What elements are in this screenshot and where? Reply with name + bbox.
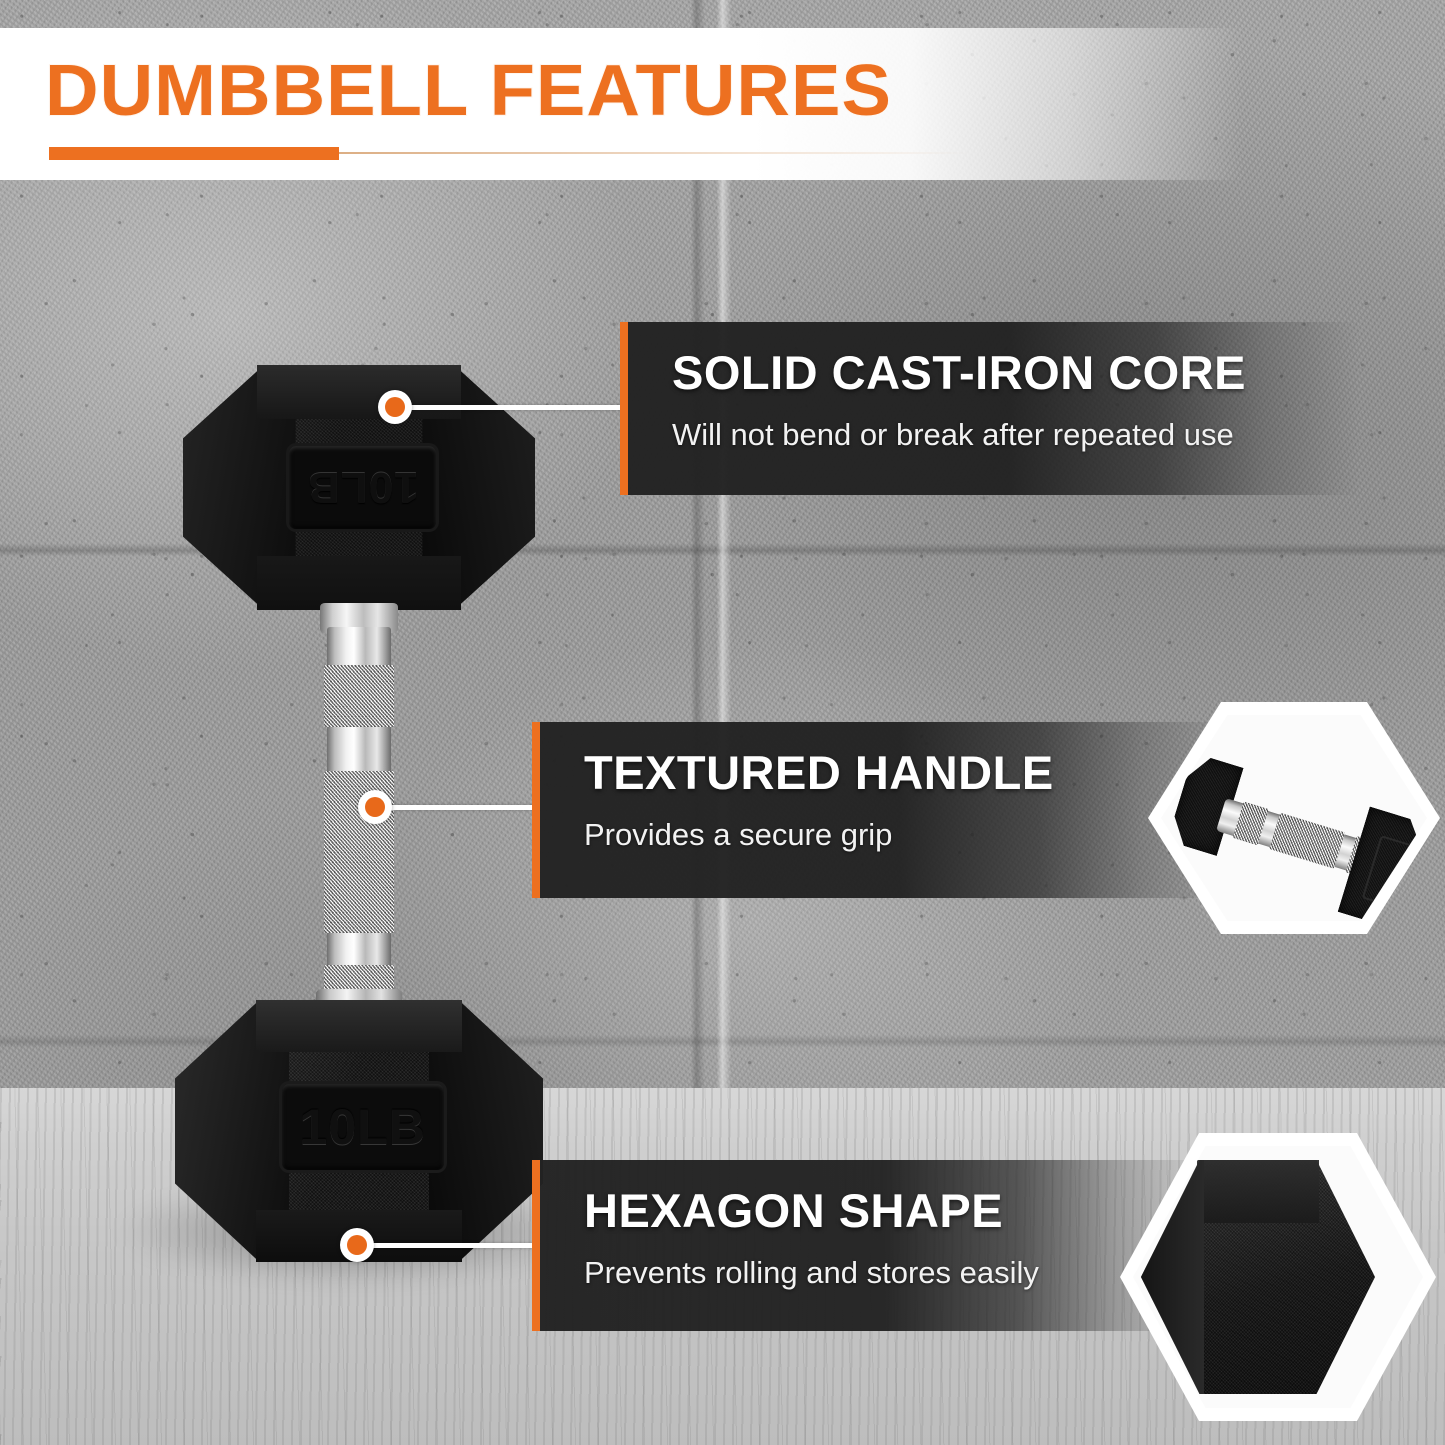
top-head-weight-label: 10LB [307,462,419,512]
mini-knurl-band-2 [1269,813,1345,869]
connector-dot-core-fill [385,397,405,417]
top-head-weight-plate: 10LB [289,446,437,529]
connector-dot-hexagon [340,1228,374,1262]
callout-body-1: SOLID CAST-IRON CORE Will not bend or br… [628,322,1360,495]
callout-body-2: TEXTURED HANDLE Provides a secure grip [540,722,1232,898]
dumbbell-bottom-head: 10LB [175,1000,543,1262]
callout-heading-2: TEXTURED HANDLE [584,748,1232,797]
feature-callout-textured-handle: TEXTURED HANDLE Provides a secure grip [532,722,1232,898]
callout-body-3: HEXAGON SHAPE Prevents rolling and store… [540,1160,1204,1331]
page-title: DUMBBELL FEATURES [45,50,892,132]
callout-accent-bar-2 [532,722,540,898]
feature-callout-hexagon-shape: HEXAGON SHAPE Prevents rolling and store… [532,1160,1204,1331]
dumbbell-top-head: 10LB [183,365,535,610]
callout-subtext-3: Prevents rolling and stores easily [584,1255,1204,1291]
callout-heading-3: HEXAGON SHAPE [584,1186,1204,1235]
mini-hexagon-top-bevel [1197,1160,1319,1223]
top-head-bottom-bevel [257,556,461,610]
callout-subtext-2: Provides a secure grip [584,817,1232,853]
connector-dot-core [378,390,412,424]
connector-line-core [395,405,623,410]
callout-subtext-1: Will not bend or break after repeated us… [672,417,1360,453]
connector-line-handle [388,805,536,810]
bottom-head-weight-plate: 10LB [282,1084,444,1170]
callout-accent-bar-1 [620,322,628,495]
bottom-head-weight-label: 10LB [300,1098,426,1156]
infographic-canvas: DUMBBELL FEATURES 10LB [0,0,1445,1445]
callout-heading-1: SOLID CAST-IRON CORE [672,348,1360,397]
handle-knurl-band-top [324,665,394,727]
inset-handle-closeup [1148,702,1440,934]
connector-dot-handle-fill [365,797,385,817]
connector-dot-handle [358,790,392,824]
feature-callout-solid-cast-iron-core: SOLID CAST-IRON CORE Will not bend or br… [620,322,1360,495]
callout-accent-bar-3 [532,1160,540,1331]
inset-hexagon-end-view [1120,1133,1436,1421]
top-head-top-bevel [257,365,461,419]
connector-line-hexagon [370,1243,538,1248]
header-accent-rule [49,147,339,160]
connector-dot-hexagon-fill [347,1235,367,1255]
header-thin-rule [339,152,969,154]
bottom-head-top-bevel [256,1000,462,1052]
